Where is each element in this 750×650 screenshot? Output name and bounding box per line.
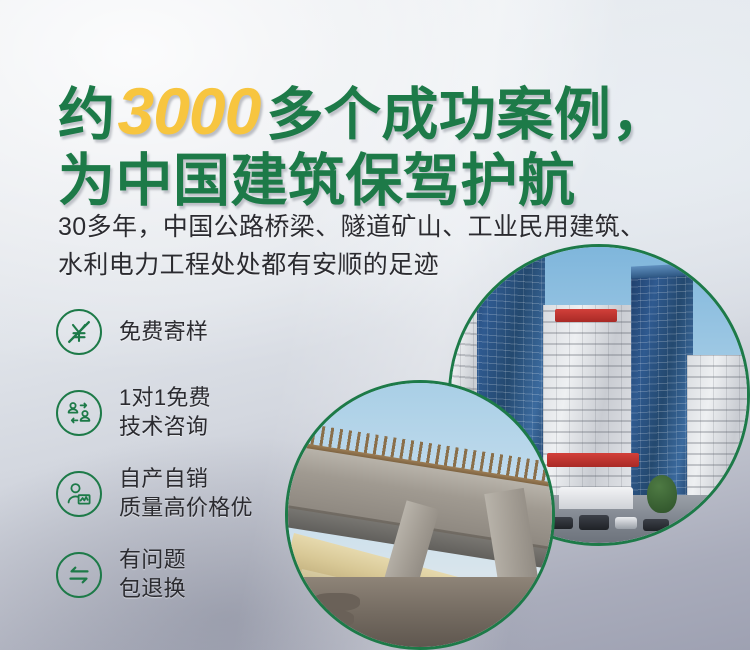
feature-label: 有问题 包退换 <box>119 546 186 603</box>
headline-number: 3000 <box>116 74 267 148</box>
entrance-canopy <box>559 487 633 509</box>
subtitle-line-1: 30多年，中国公路桥梁、隧道矿山、工业民用建筑、 <box>58 208 718 246</box>
tree <box>647 475 677 513</box>
feature-label: 自产自销 质量高价格优 <box>119 465 253 522</box>
feature-label-line-2: 包退换 <box>119 576 186 601</box>
feature-label-line-1: 自产自销 <box>119 466 208 491</box>
feature-label-line-1: 1对1免费 <box>119 385 211 410</box>
free-sample-icon <box>56 309 102 355</box>
feature-label-line-2: 质量高价格优 <box>119 495 253 520</box>
feature-list: 免费寄样 1对1免费 技术咨询 <box>56 296 316 620</box>
roof-sign <box>555 309 617 322</box>
feature-label: 1对1免费 技术咨询 <box>119 384 211 441</box>
feature-item-return-exchange[interactable]: 有问题 包退换 <box>56 539 316 611</box>
vehicle <box>615 517 637 529</box>
feature-item-free-sample[interactable]: 免费寄样 <box>56 296 316 368</box>
headline-line-1: 约3000多个成功案例， <box>58 78 698 144</box>
headline-suffix: 多个成功案例， <box>266 83 669 147</box>
facade-sign <box>547 453 639 467</box>
headline-line-2: 为中国建筑保驾护航 <box>58 153 698 210</box>
promo-banner: 约3000多个成功案例， 为中国建筑保驾护航 30多年，中国公路桥梁、隧道矿山、… <box>0 0 750 650</box>
return-exchange-icon <box>56 552 102 598</box>
feature-label: 免费寄样 <box>119 318 208 347</box>
feature-item-factory-direct[interactable]: 自产自销 质量高价格优 <box>56 458 316 530</box>
bridge-photo <box>285 380 555 650</box>
headline-prefix: 约 <box>58 83 116 147</box>
vehicle <box>643 519 669 531</box>
consultation-icon <box>56 390 102 436</box>
feature-label-line-1: 免费寄样 <box>119 319 208 344</box>
bridge-scene <box>288 383 552 647</box>
feature-label-line-2: 技术咨询 <box>119 414 208 439</box>
feature-item-consultation[interactable]: 1对1免费 技术咨询 <box>56 377 316 449</box>
factory-direct-icon <box>56 471 102 517</box>
feature-label-line-1: 有问题 <box>119 547 186 572</box>
headline: 约3000多个成功案例， 为中国建筑保驾护航 <box>58 78 698 210</box>
vehicle <box>579 515 609 530</box>
